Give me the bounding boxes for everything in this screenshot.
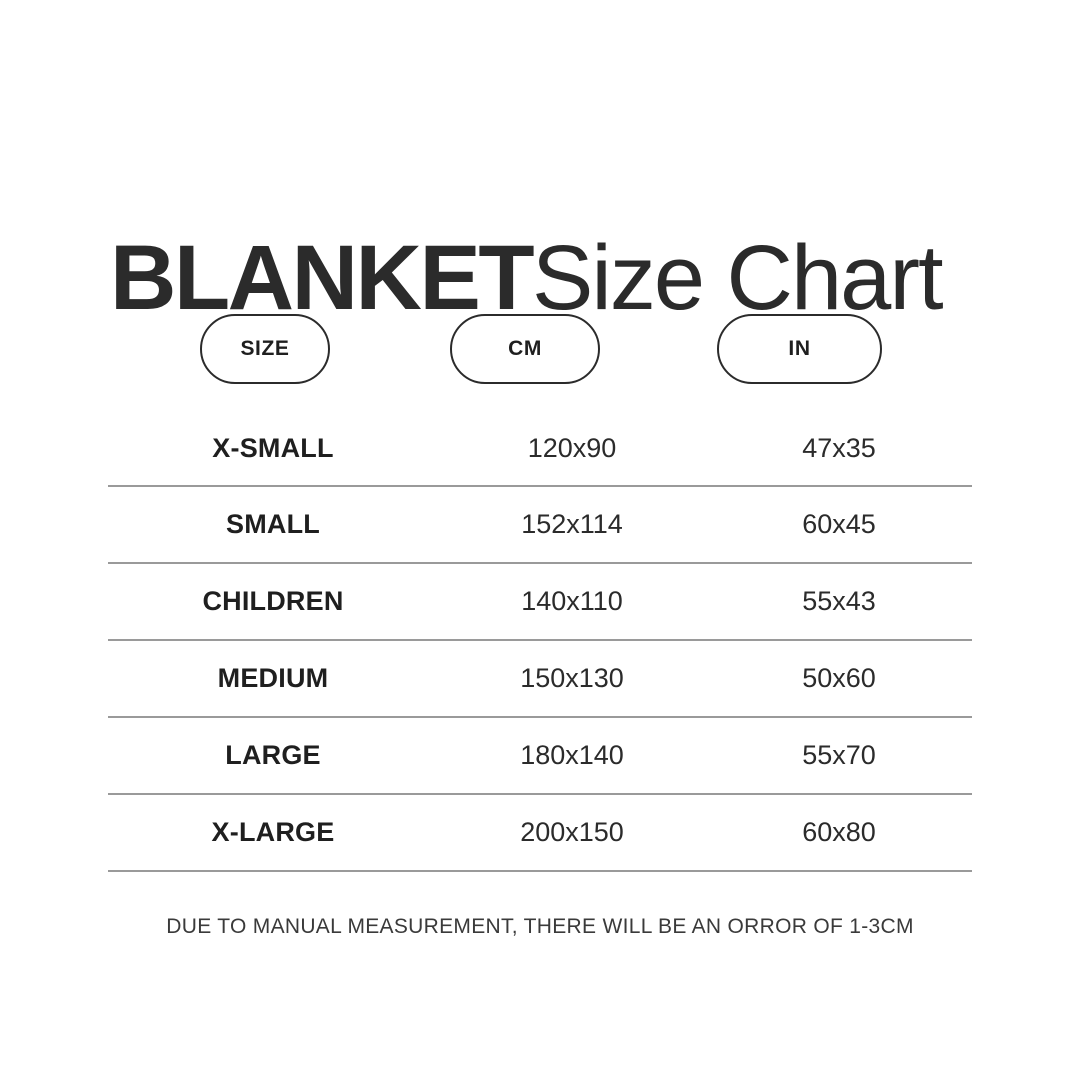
cell-cm: 200x150	[438, 817, 706, 848]
cell-size: X-LARGE	[108, 817, 438, 848]
table-row: SMALL 152x114 60x45	[108, 487, 972, 564]
cell-in: 60x80	[706, 817, 972, 848]
cell-in: 60x45	[706, 509, 972, 540]
cell-size: LARGE	[108, 740, 438, 771]
table-row: MEDIUM 150x130 50x60	[108, 641, 972, 718]
cell-size: SMALL	[108, 509, 438, 540]
table-header-pills: SIZE CM IN	[108, 314, 972, 384]
cell-cm: 150x130	[438, 663, 706, 694]
cell-in: 50x60	[706, 663, 972, 694]
measurement-disclaimer: DUE TO MANUAL MEASUREMENT, THERE WILL BE…	[0, 915, 1080, 939]
cell-cm: 140x110	[438, 586, 706, 617]
cell-cm: 180x140	[438, 740, 706, 771]
cell-size: CHILDREN	[108, 586, 438, 617]
page-title: BLANKETSize Chart	[110, 230, 942, 326]
column-header-size: SIZE	[200, 314, 330, 384]
cell-size: X-SMALL	[108, 433, 438, 464]
table-row: X-LARGE 200x150 60x80	[108, 795, 972, 872]
cell-size: MEDIUM	[108, 663, 438, 694]
column-header-in: IN	[717, 314, 882, 384]
table-row: LARGE 180x140 55x70	[108, 718, 972, 795]
column-header-in-label: IN	[788, 337, 810, 361]
cell-in: 47x35	[706, 433, 972, 464]
cell-cm: 120x90	[438, 433, 706, 464]
table-row: X-SMALL 120x90 47x35	[108, 412, 972, 487]
cell-cm: 152x114	[438, 509, 706, 540]
size-chart-page: BLANKETSize Chart SIZE CM IN X-SMALL 120…	[0, 0, 1080, 1080]
cell-in: 55x70	[706, 740, 972, 771]
column-header-cm-label: CM	[508, 337, 542, 361]
table-row: CHILDREN 140x110 55x43	[108, 564, 972, 641]
column-header-cm: CM	[450, 314, 600, 384]
column-header-size-label: SIZE	[240, 337, 289, 361]
cell-in: 55x43	[706, 586, 972, 617]
size-table: X-SMALL 120x90 47x35 SMALL 152x114 60x45…	[108, 412, 972, 872]
